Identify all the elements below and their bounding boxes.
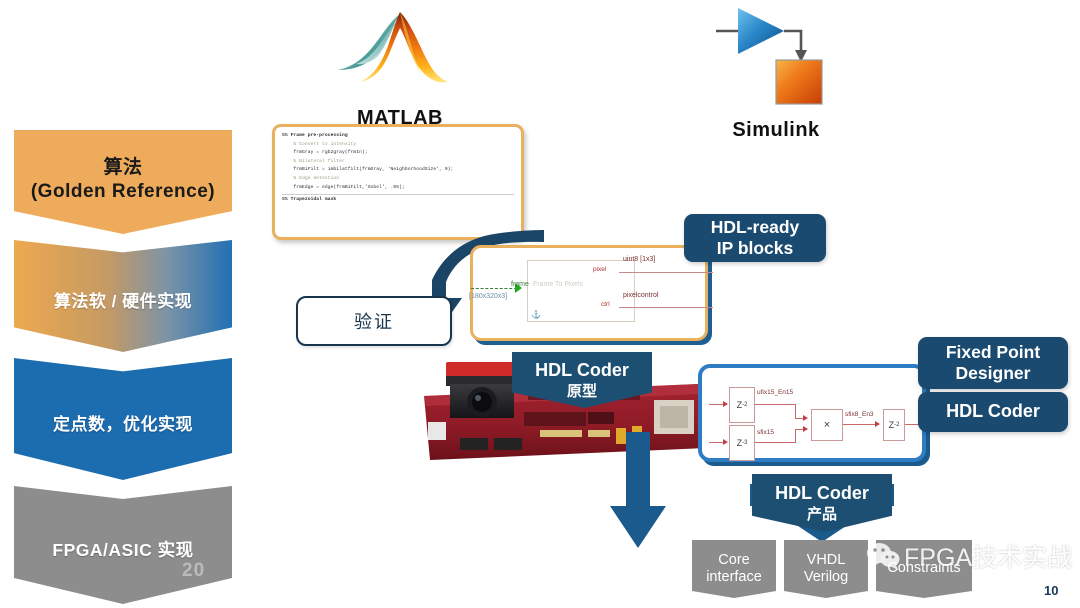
input-signal-line	[471, 288, 517, 289]
simulink-title: Simulink	[706, 119, 846, 142]
verification-box[interactable]: 验证	[296, 296, 452, 346]
ctrl-signal-line	[619, 307, 713, 308]
ctrl-type-label: pixelcontrol	[623, 292, 658, 299]
pennant-hdl-proto-line2: 原型	[567, 380, 597, 401]
pennant-hdl-prod-line1: HDL Coder	[775, 483, 869, 504]
wire-b-bend	[795, 429, 796, 443]
multiplier-symbol: ×	[824, 419, 830, 431]
slide-canvas: 算法 (Golden Reference) 算法软 / 硬件实现 定点数，优化实…	[0, 0, 1080, 608]
inport-label: frame	[511, 281, 529, 288]
chevron-algorithm-label: 算法 (Golden Reference)	[23, 156, 223, 204]
output-constraints-line1: Constraints	[887, 560, 960, 577]
chevron-fpga-asic[interactable]: FPGA/ASIC 实现	[14, 486, 232, 604]
badge-hdl-coder-line1: HDL Coder	[946, 401, 1040, 423]
input-dimension-label: [180x320x3]	[469, 293, 507, 300]
verification-label: 验证	[354, 308, 394, 334]
wire-arrow-a-mul-icon	[803, 415, 808, 421]
workflow-chevron-stack: 算法 (Golden Reference) 算法软 / 硬件实现 定点数，优化实…	[14, 130, 232, 608]
badge-hdl-ready-ip-blocks[interactable]: HDL-ready IP blocks	[684, 214, 826, 262]
delay-block-z3[interactable]: Z-3	[729, 425, 755, 461]
delay-z2b-exp: -2	[894, 422, 899, 428]
matlab-editor-window[interactable]: %% Frame pre-processing % Convert to int…	[272, 124, 524, 240]
multiplier-block[interactable]: ×	[811, 409, 843, 441]
output-core-line1: Core	[718, 552, 749, 569]
pennant-hdl-prod-line2: 产品	[807, 503, 837, 524]
fixed-point-canvas: Z-2 Z-3 × Z-2 ufix15_En15 sfix15 sfix8_E…	[707, 373, 917, 453]
type-label-ufix15: ufix15_En15	[757, 389, 793, 396]
simulink-logo-group: Simulink	[706, 6, 846, 142]
wire-b-out	[755, 442, 795, 443]
badge-hdl-ready-line2: IP blocks	[711, 238, 800, 259]
code-line: frmBiFilt = imbilatfilt(frmGray, 'Neighb…	[282, 166, 514, 175]
output-box-core-interface[interactable]: Core interface	[692, 540, 776, 598]
wire-a-bend	[795, 404, 796, 419]
badge-fpd-line1: Fixed Point	[946, 342, 1040, 363]
frame-to-pixels-block[interactable]	[527, 260, 635, 322]
output-vhdl-line1: VHDL	[807, 552, 846, 569]
wire-a-out	[755, 404, 795, 405]
wire-mul-out	[843, 424, 875, 425]
wire-arrow-out-icon	[875, 421, 880, 427]
output-core-line2: interface	[706, 569, 762, 586]
matlab-membrane-icon	[330, 4, 470, 100]
badge-fpd-line2: Designer	[946, 363, 1040, 384]
pixel-type-label: uint8 [1x3]	[623, 256, 655, 263]
wire-final-out	[905, 424, 919, 425]
chevron-algorithm-line1: 算法	[31, 156, 215, 180]
faint-slide-number: 20	[182, 560, 205, 582]
page-number: 10	[1044, 583, 1058, 598]
wire-arrow-b-mul-icon	[803, 426, 808, 432]
chevron-sw-hw-impl-label: 算法软 / 硬件实现	[46, 291, 200, 312]
badge-hdl-coder[interactable]: HDL Coder	[918, 392, 1068, 432]
code-line: %% Frame pre-processing	[282, 132, 514, 141]
outport-ctrl-label: ctrl	[601, 301, 610, 308]
delay-z3-exp: -3	[742, 440, 747, 446]
block-name-label: Frame To Pixels	[533, 281, 583, 288]
type-label-sfix15: sfix15	[757, 429, 774, 436]
outport-pixel-label: pixel	[593, 266, 606, 273]
pixel-signal-line	[619, 272, 713, 273]
down-arrow-center-icon	[608, 432, 668, 550]
delay-block-z2[interactable]: Z-2	[729, 387, 755, 423]
badge-hdl-ready-line1: HDL-ready	[711, 217, 800, 238]
frame-to-pixels-model-panel[interactable]: frame Frame To Pixels [180x320x3] pixel …	[470, 245, 708, 341]
matlab-logo-group: MATLAB	[330, 4, 470, 130]
wire-arrow-a-icon	[723, 401, 728, 407]
output-box-vhdl-verilog[interactable]: VHDL Verilog	[784, 540, 868, 598]
chevron-fixed-point-label: 定点数，优化实现	[45, 414, 201, 435]
chevron-algorithm-line2: (Golden Reference)	[31, 180, 215, 204]
code-line: % Bilateral filter	[282, 158, 514, 167]
chevron-fixed-point[interactable]: 定点数，优化实现	[14, 358, 232, 480]
code-line: % Edge detection	[282, 175, 514, 184]
chevron-sw-hw-impl[interactable]: 算法软 / 硬件实现	[14, 240, 232, 352]
delay-z2-exp: -2	[742, 402, 747, 408]
code-footer-line: %% Trapezoidal mask	[282, 196, 514, 205]
output-vhdl-line2: Verilog	[804, 569, 848, 586]
chevron-fpga-asic-label: FPGA/ASIC 实现	[44, 540, 201, 562]
chevron-algorithm[interactable]: 算法 (Golden Reference)	[14, 130, 232, 234]
code-line: frmEdge = edge(frmBiFilt,'Sobel', .05);	[282, 184, 514, 193]
output-box-constraints[interactable]: Constraints	[876, 540, 972, 598]
wire-arrow-b-icon	[723, 439, 728, 445]
block-anchor-icon: ⚓	[531, 310, 541, 319]
type-label-sfix8: sfix8_En3	[845, 411, 874, 418]
code-divider	[282, 194, 514, 195]
code-line: % Convert to intensity	[282, 141, 514, 150]
simulink-block-icon	[706, 6, 846, 110]
pennant-hdl-proto-line1: HDL Coder	[535, 360, 629, 381]
badge-fixed-point-designer[interactable]: Fixed Point Designer	[918, 337, 1068, 389]
code-line: frmGray = rgb2gray(frmIn);	[282, 149, 514, 158]
delay-block-z2-out[interactable]: Z-2	[883, 409, 905, 441]
fixed-point-model-panel[interactable]: Z-2 Z-3 × Z-2 ufix15_En15 sfix15 sfix8_E…	[698, 364, 926, 462]
